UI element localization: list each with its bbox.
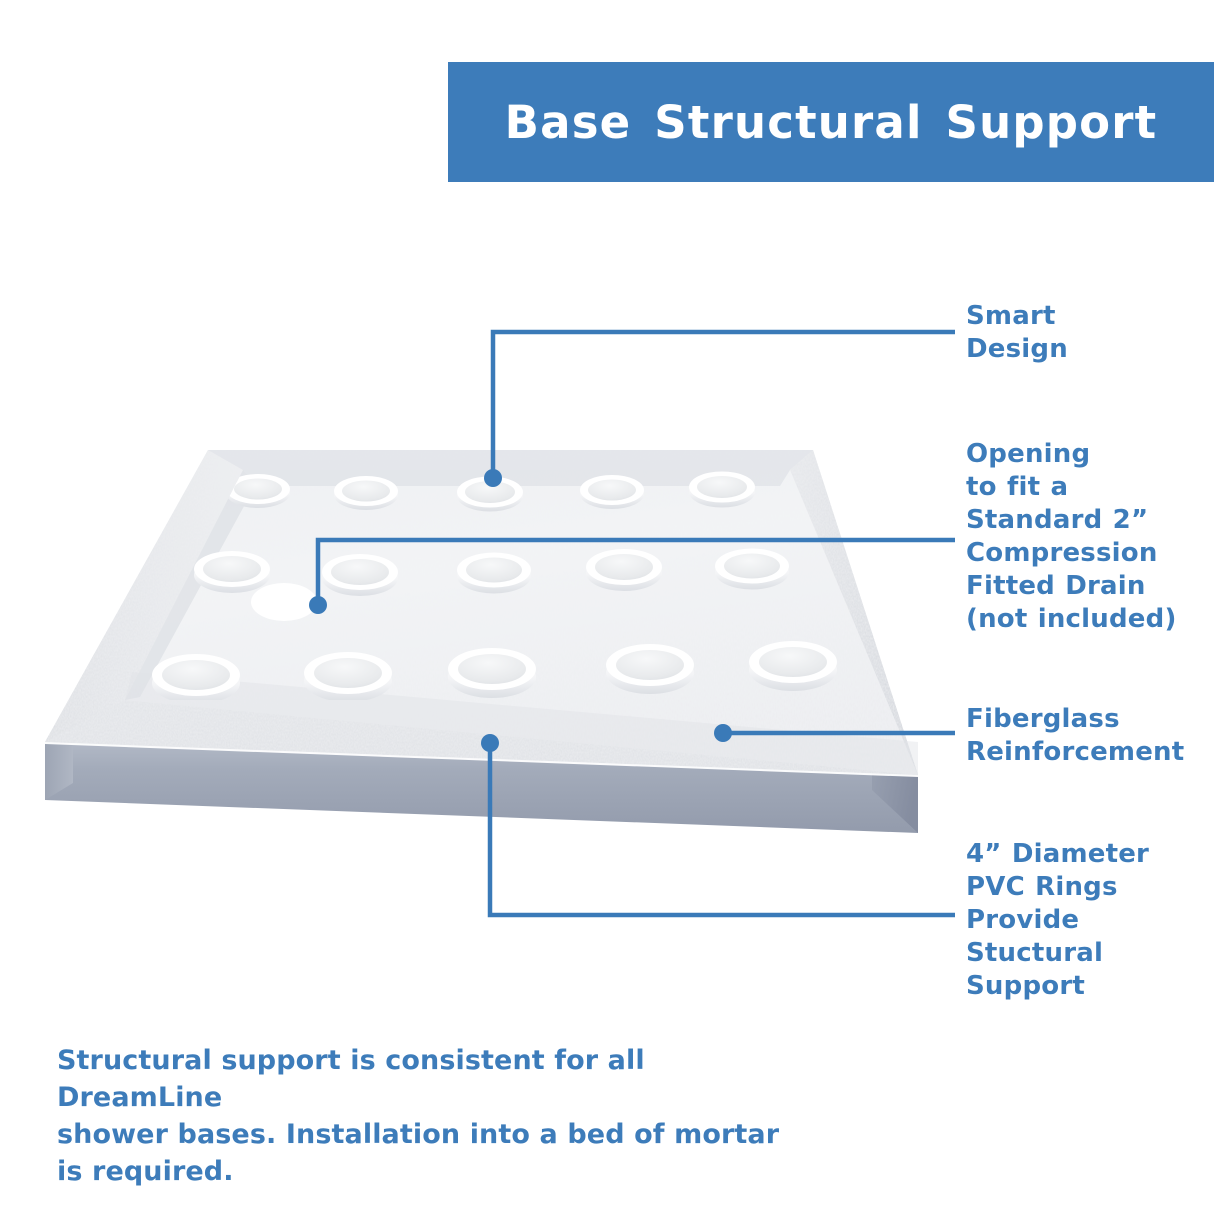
callout-label-fiberglass-reinforcement: Fiberglass Reinforcement	[966, 703, 1212, 769]
pvc-ring	[334, 476, 398, 510]
pvc-ring	[586, 549, 662, 591]
pvc-ring	[194, 551, 270, 593]
pvc-ring	[448, 648, 536, 698]
pvc-ring	[580, 475, 644, 509]
page-title: Base Structural Support	[505, 100, 1158, 145]
pvc-ring	[606, 644, 694, 694]
pvc-ring	[689, 472, 755, 508]
pvc-ring	[749, 641, 837, 691]
pvc-ring	[457, 553, 531, 594]
pvc-ring	[152, 654, 240, 704]
base-rim-back-face	[208, 450, 813, 470]
infographic-stage: Base Structural Support Smart Design Ope…	[0, 0, 1214, 1214]
pvc-ring	[322, 554, 398, 596]
bottom-caption: Structural support is consistent for all…	[57, 1042, 817, 1190]
callout-label-drain-opening: Opening to fit a Standard 2” Compression…	[966, 438, 1212, 636]
drain-opening	[251, 583, 317, 621]
pvc-ring	[715, 549, 789, 590]
callout-label-pvc-rings: 4” Diameter PVC Rings Provide Stuctural …	[966, 838, 1206, 1003]
pvc-ring	[457, 477, 523, 512]
pvc-ring	[304, 652, 392, 702]
callout-label-smart-design: Smart Design	[966, 300, 1206, 366]
title-banner: Base Structural Support	[448, 62, 1214, 182]
